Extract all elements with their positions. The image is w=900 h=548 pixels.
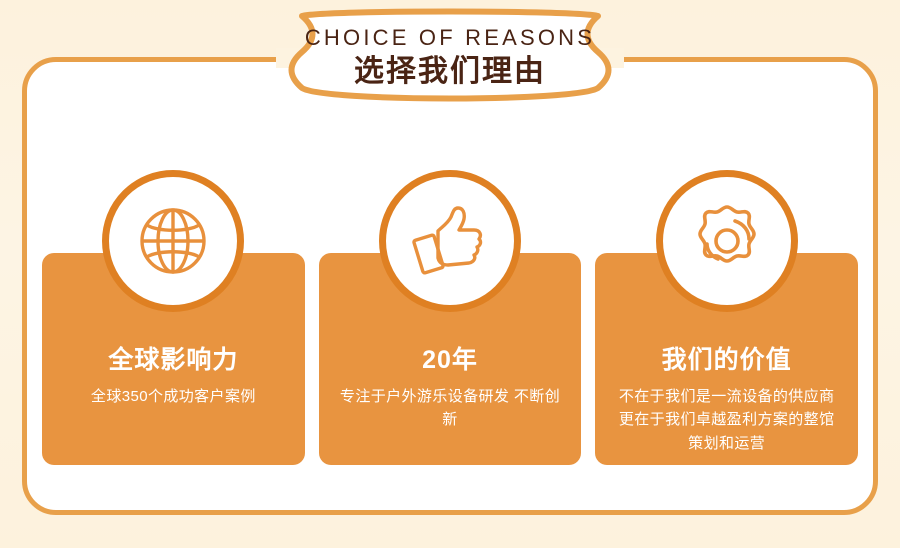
badge-globe — [102, 170, 244, 312]
badge-thumbs-up — [379, 170, 521, 312]
feature-card-value[interactable]: 我们的价值 不在于我们是一流设备的供应商 更在于我们卓越盈利方案的整馆策划和运营 — [595, 253, 858, 465]
feature-card-years[interactable]: 20年 专注于户外游乐设备研发 不断创新 — [319, 253, 582, 465]
ribbon-shape — [292, 12, 609, 99]
card-description: 全球350个成功客户案例 — [91, 385, 256, 408]
badge-gear — [656, 170, 798, 312]
feature-card-list: 全球影响力 全球350个成功客户案例 20年 专注于户外游乐设备研发 不断创新 — [42, 253, 858, 465]
card-description: 不在于我们是一流设备的供应商 更在于我们卓越盈利方案的整馆策划和运营 — [613, 385, 840, 455]
globe-icon — [131, 199, 215, 283]
thumbs-up-icon — [408, 199, 492, 283]
gear-icon — [685, 199, 769, 283]
header-ribbon — [268, 6, 632, 110]
feature-card-global[interactable]: 全球影响力 全球350个成功客户案例 — [42, 253, 305, 465]
card-description: 专注于户外游乐设备研发 不断创新 — [337, 385, 564, 432]
card-title: 全球影响力 — [108, 345, 238, 375]
card-title: 20年 — [422, 345, 478, 375]
card-title: 我们的价值 — [662, 345, 792, 375]
